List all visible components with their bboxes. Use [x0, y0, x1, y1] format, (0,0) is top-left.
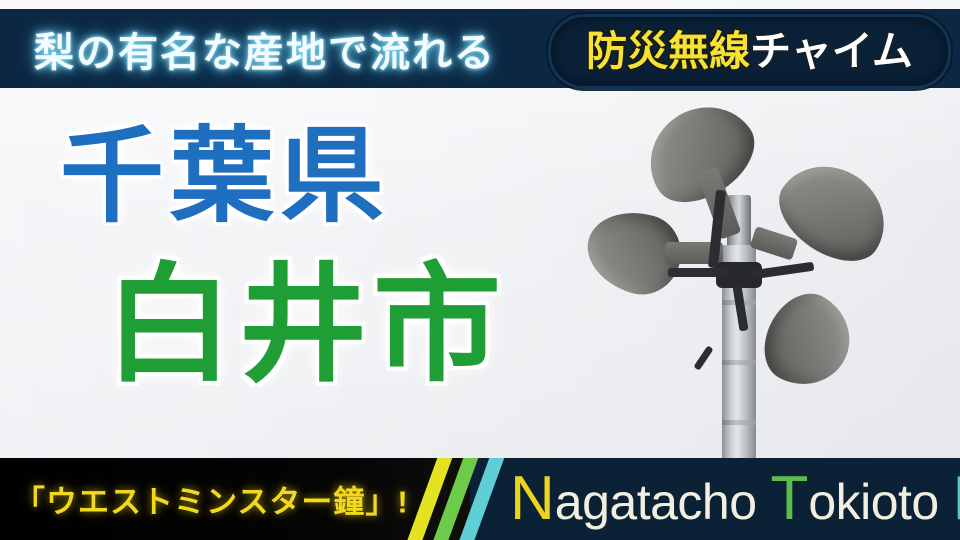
- brand-initial-t: T: [770, 464, 808, 533]
- channel-brand: Nagatacho Tokioto Plus: [510, 468, 960, 530]
- pole-band: [722, 420, 756, 425]
- header-badge-text: 防災無線チャイム: [586, 31, 913, 72]
- brand-word-nagatacho: agatacho: [555, 474, 757, 530]
- brand-initial-n: N: [510, 464, 555, 533]
- brand-word-tokioto: okioto: [808, 474, 938, 530]
- header-badge-plain: チャイム: [750, 28, 913, 74]
- prefecture-title: 千葉県: [60, 125, 390, 229]
- city-title: 白井市: [105, 262, 507, 390]
- horn-throat: [750, 226, 799, 261]
- tower-bracket: [668, 268, 728, 277]
- header-lead-text: 梨の有名な産地で流れる: [34, 20, 496, 78]
- footer-bar: 「ウエストミンスター鐘」! Nagatacho Tokioto Plus: [0, 458, 960, 540]
- header-badge: 防災無線チャイム: [548, 14, 951, 89]
- brand-initial-p: P: [953, 464, 960, 533]
- thumbnail-canvas: 梨の有名な産地で流れる 防災無線チャイム 千葉県 白井市 「ウエストミンスター鐘…: [0, 0, 960, 540]
- tune-title: 「ウエストミンスター鐘」!: [14, 477, 409, 522]
- header-badge-accent: 防災無線: [586, 28, 750, 74]
